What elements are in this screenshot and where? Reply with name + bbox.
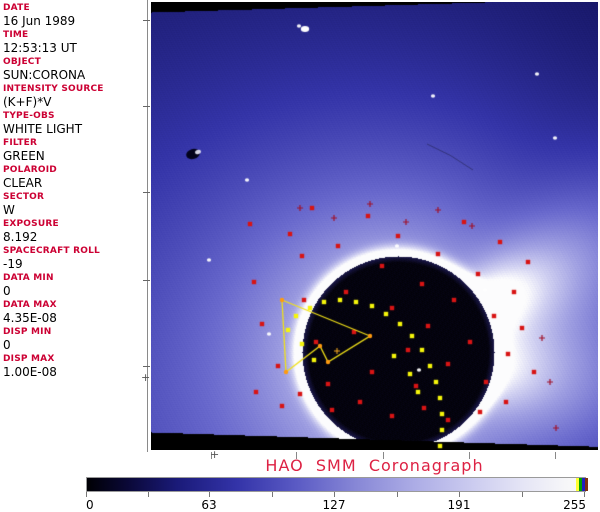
- colorbar-tick-label: 255: [563, 498, 586, 512]
- meta-field-object: OBJECTSUN:CORONA: [3, 57, 147, 82]
- meta-label: DATE: [3, 3, 147, 14]
- meta-field-filter: FILTERGREEN: [3, 138, 147, 163]
- chart-title: HAO SMM Coronagraph: [151, 456, 598, 475]
- meta-value: SUN:CORONA: [3, 68, 147, 82]
- coronagraph-image: [151, 2, 598, 450]
- colorbar-tick: [459, 492, 460, 497]
- meta-value: W: [3, 203, 147, 217]
- meta-value: WHITE LIGHT: [3, 122, 147, 136]
- colorbar-tick-labels: 063127191255: [86, 498, 586, 512]
- colorbar-tick: [584, 492, 585, 497]
- meta-label: INTENSITY SOURCE: [3, 84, 147, 95]
- meta-field-disp-min: DISP MIN0: [3, 327, 147, 352]
- colorbar-tick: [397, 492, 398, 497]
- meta-label: DISP MAX: [3, 354, 147, 365]
- meta-field-data-max: DATA MAX4.35E-08: [3, 300, 147, 325]
- meta-field-disp-max: DISP MAX1.00E-08: [3, 354, 147, 379]
- meta-field-polaroid: POLAROIDCLEAR: [3, 165, 147, 190]
- meta-label: DISP MIN: [3, 327, 147, 338]
- colorbar-group: 063127191255: [86, 477, 586, 512]
- meta-value: 1.00E-08: [3, 365, 147, 379]
- meta-label: TYPE-OBS: [3, 111, 147, 122]
- meta-field-type-obs: TYPE-OBSWHITE LIGHT: [3, 111, 147, 136]
- meta-value: 16 Jun 1989: [3, 14, 147, 28]
- colorbar-overlay-stripe: [585, 478, 588, 491]
- meta-value: (K+F)*V: [3, 95, 147, 109]
- meta-label: SPACECRAFT ROLL: [3, 246, 147, 257]
- coronagraph-display: DATE16 Jun 1989TIME12:53:13 UTOBJECTSUN:…: [0, 0, 600, 512]
- reference-crosshair: +: [141, 372, 150, 383]
- meta-field-time: TIME12:53:13 UT: [3, 30, 147, 55]
- meta-value: CLEAR: [3, 176, 147, 190]
- meta-field-spacecraft-roll: SPACECRAFT ROLL-19: [3, 246, 147, 271]
- meta-value: -19: [3, 257, 147, 271]
- colorbar-tick: [209, 492, 210, 497]
- meta-label: EXPOSURE: [3, 219, 147, 230]
- meta-value: GREEN: [3, 149, 147, 163]
- colorbar-tick: [334, 492, 335, 497]
- meta-value: 4.35E-08: [3, 311, 147, 325]
- meta-label: DATA MIN: [3, 273, 147, 284]
- meta-field-intensity-source: INTENSITY SOURCE(K+F)*V: [3, 84, 147, 109]
- meta-field-date: DATE16 Jun 1989: [3, 3, 147, 28]
- meta-value: 8.192: [3, 230, 147, 244]
- colorbar-tick-label: 127: [323, 498, 346, 512]
- colorbar-tick: [522, 492, 523, 497]
- axis-tick-left: [143, 366, 150, 367]
- meta-field-exposure: EXPOSURE8.192: [3, 219, 147, 244]
- meta-value: 12:53:13 UT: [3, 41, 147, 55]
- colorbar: [86, 477, 586, 492]
- colorbar-tick: [272, 492, 273, 497]
- meta-value: 0: [3, 338, 147, 352]
- meta-label: FILTER: [3, 138, 147, 149]
- colorbar-tick-label: 191: [448, 498, 471, 512]
- axis-tick-left: [143, 192, 150, 193]
- colorbar-tick: [148, 492, 149, 497]
- colorbar-tick-label: 0: [86, 498, 94, 512]
- meta-value: 0: [3, 284, 147, 298]
- meta-label: TIME: [3, 30, 147, 41]
- colorbar-tick-label: 63: [201, 498, 216, 512]
- meta-field-sector: SECTORW: [3, 192, 147, 217]
- axis-tick-left: [143, 280, 150, 281]
- axis-tick-left: [143, 106, 150, 107]
- meta-label: DATA MAX: [3, 300, 147, 311]
- corona-image-canvas: [151, 2, 598, 450]
- axis-tick-left: [143, 20, 150, 21]
- meta-label: SECTOR: [3, 192, 147, 203]
- meta-field-data-min: DATA MIN0: [3, 273, 147, 298]
- meta-label: POLAROID: [3, 165, 147, 176]
- colorbar-tick: [86, 492, 87, 497]
- meta-label: OBJECT: [3, 57, 147, 68]
- metadata-panel: DATE16 Jun 1989TIME12:53:13 UTOBJECTSUN:…: [0, 0, 148, 452]
